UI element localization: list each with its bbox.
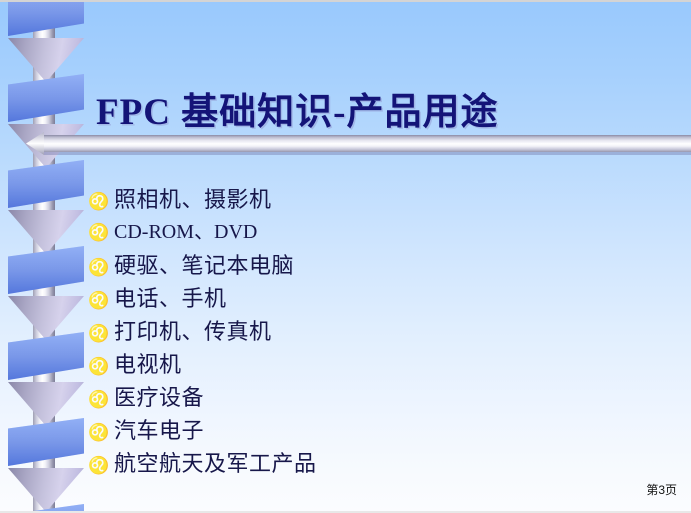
- list-item: ♌ 打印机、传真机: [88, 314, 648, 347]
- list-item-label: 打印机、传真机: [114, 314, 272, 346]
- list-item-label: CD-ROM、DVD: [114, 215, 257, 244]
- ribbon-pole: [33, 0, 55, 513]
- leo-bullet-icon: ♌: [88, 258, 114, 278]
- ribbon-band-back: [8, 210, 84, 254]
- ribbon-turn: [0, 468, 92, 513]
- leo-bullet-icon: ♌: [88, 223, 114, 243]
- ribbon-band-front-shading: [8, 0, 84, 36]
- ribbon-band-front-shading: [8, 160, 84, 208]
- ribbon-turn: [0, 382, 92, 468]
- page-number: 第3页: [646, 481, 677, 498]
- ribbon-band-back: [8, 382, 84, 426]
- list-item-label: 医疗设备: [114, 380, 204, 412]
- leo-bullet-icon: ♌: [88, 291, 114, 311]
- divider-bar: [40, 135, 691, 152]
- ribbon-turn: [0, 38, 92, 124]
- divider-bar-shadow: [44, 152, 691, 155]
- leo-bullet-icon: ♌: [88, 324, 114, 344]
- presentation-slide: FPC 基础知识-产品用途 ♌ 照相机、摄影机 ♌ CD-ROM、DVD ♌ 硬…: [0, 0, 691, 513]
- ribbon-band-front: [8, 418, 84, 466]
- list-item-label: 电视机: [114, 347, 182, 379]
- bullet-list: ♌ 照相机、摄影机 ♌ CD-ROM、DVD ♌ 硬驱、笔记本电脑 ♌ 电话、手…: [88, 182, 648, 479]
- list-item-label: 硬驱、笔记本电脑: [114, 248, 294, 280]
- ribbon-band-front-shading: [8, 418, 84, 466]
- list-item-label: 汽车电子: [114, 413, 204, 445]
- ribbon-band-back: [8, 296, 84, 340]
- leo-bullet-icon: ♌: [88, 192, 114, 212]
- ribbon-turn: [0, 0, 92, 38]
- leo-bullet-icon: ♌: [88, 456, 114, 476]
- list-item: ♌ 照相机、摄影机: [88, 182, 648, 215]
- list-item: ♌ 硬驱、笔记本电脑: [88, 248, 648, 281]
- ribbon-band-front: [8, 160, 84, 208]
- list-item: ♌ 汽车电子: [88, 413, 648, 446]
- leo-bullet-icon: ♌: [88, 390, 114, 410]
- ribbon-turn: [0, 296, 92, 382]
- ribbon-band-back: [8, 38, 84, 82]
- list-item: ♌ 航空航天及军工产品: [88, 446, 648, 479]
- list-item-label: 电话、手机: [114, 281, 227, 313]
- list-item: ♌ 电视机: [88, 347, 648, 380]
- list-item: ♌ CD-ROM、DVD: [88, 215, 648, 248]
- ribbon-band-back: [8, 468, 84, 512]
- leo-bullet-icon: ♌: [88, 357, 114, 377]
- list-item: ♌ 医疗设备: [88, 380, 648, 413]
- list-item-label: 照相机、摄影机: [114, 182, 272, 214]
- ribbon-band-front-shading: [8, 246, 84, 294]
- ribbon-band-front-shading: [8, 504, 84, 513]
- spiral-ribbon-decoration: [0, 0, 92, 513]
- ribbon-band-front: [8, 504, 84, 513]
- ribbon-band-front: [8, 246, 84, 294]
- ribbon-band-front: [8, 332, 84, 380]
- list-item-label: 航空航天及军工产品: [114, 446, 317, 478]
- ribbon-turn: [0, 210, 92, 296]
- ribbon-band-front: [8, 74, 84, 122]
- ribbon-band-front-shading: [8, 332, 84, 380]
- divider-arrow-icon: [26, 132, 44, 155]
- ribbon-band-front: [8, 0, 84, 36]
- list-item: ♌ 电话、手机: [88, 281, 648, 314]
- slide-title: FPC 基础知识-产品用途: [96, 90, 666, 136]
- leo-bullet-icon: ♌: [88, 423, 114, 443]
- ribbon-band-front-shading: [8, 74, 84, 122]
